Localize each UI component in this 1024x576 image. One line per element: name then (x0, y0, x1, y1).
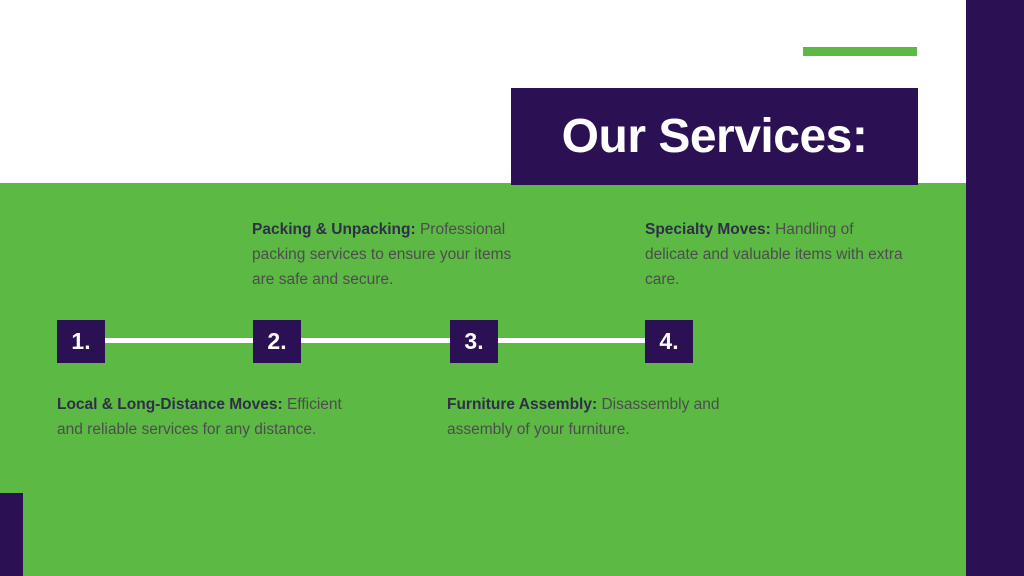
page-title: Our Services: (562, 109, 868, 164)
service-item-furniture-assembly: Furniture Assembly: Disassembly and asse… (447, 392, 777, 442)
step-number-label: 3. (464, 328, 483, 355)
service-label: Furniture Assembly: (447, 396, 601, 413)
timeline-step-2: 2. (253, 320, 301, 363)
step-number-label: 4. (659, 328, 678, 355)
service-label: Specialty Moves: (645, 221, 775, 238)
timeline-step-3: 3. (450, 320, 498, 363)
timeline-connector-line (57, 338, 693, 343)
timeline-step-4: 4. (645, 320, 693, 363)
right-purple-band (966, 0, 1024, 576)
service-label: Packing & Unpacking: (252, 221, 420, 238)
step-number-label: 1. (71, 328, 90, 355)
bottom-left-purple-block (0, 493, 23, 576)
slide-canvas: Our Services: 1. 2. 3. 4. Packing & Unpa… (0, 0, 1024, 576)
timeline-step-1: 1. (57, 320, 105, 363)
title-banner: Our Services: (511, 88, 918, 185)
top-green-accent-bar (803, 47, 917, 56)
step-number-label: 2. (267, 328, 286, 355)
service-item-specialty-moves: Specialty Moves: Handling of delicate an… (645, 217, 903, 292)
service-label: Local & Long-Distance Moves: (57, 396, 287, 413)
service-item-packing-unpacking: Packing & Unpacking: Professional packin… (252, 217, 520, 292)
service-item-local-long-distance-moves: Local & Long-Distance Moves: Efficient a… (57, 392, 367, 442)
